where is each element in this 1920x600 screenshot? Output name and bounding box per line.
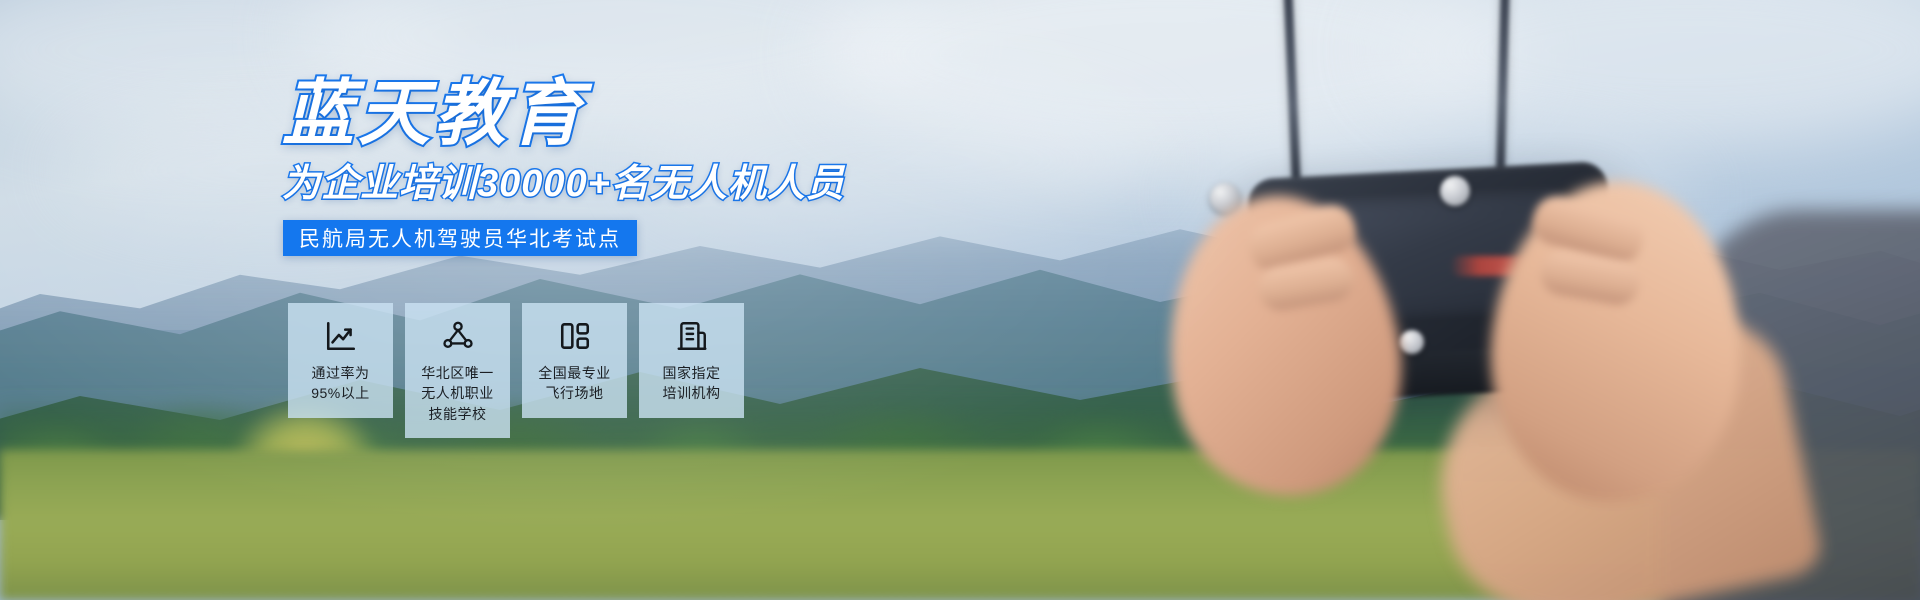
feature-card-label: 通过率为 95%以上 <box>311 363 370 404</box>
banner-headline: 蓝天教育 <box>282 78 586 150</box>
network-nodes-icon <box>441 319 475 353</box>
feature-card-label: 国家指定 培训机构 <box>663 363 721 404</box>
feature-card-flight-field[interactable]: 全国最专业 飞行场地 <box>522 303 627 418</box>
feature-card-pass-rate[interactable]: 通过率为 95%以上 <box>288 303 393 418</box>
feature-card-vocational-school[interactable]: 华北区唯一 无人机职业 技能学校 <box>405 303 510 438</box>
exam-center-badge: 民航局无人机驾驶员华北考试点 <box>283 220 637 256</box>
feature-card-label: 全国最专业 飞行场地 <box>538 363 611 404</box>
layout-panels-icon <box>558 319 592 353</box>
hero-banner: 蓝天教育 为企业培训30000+名无人机人员 民航局无人机驾驶员华北考试点 通过… <box>0 0 1920 600</box>
feature-card-national-institution[interactable]: 国家指定 培训机构 <box>639 303 744 418</box>
banner-subheadline: 为企业培训30000+名无人机人员 <box>282 165 845 203</box>
chart-line-up-icon <box>324 319 358 353</box>
feature-card-label: 华北区唯一 无人机职业 技能学校 <box>421 363 494 424</box>
feature-cards: 通过率为 95%以上 华北区唯一 无人机职业 技能学校 <box>288 303 744 438</box>
banner-content: 蓝天教育 为企业培训30000+名无人机人员 民航局无人机驾驶员华北考试点 通过… <box>0 0 1920 600</box>
building-icon <box>675 319 709 353</box>
